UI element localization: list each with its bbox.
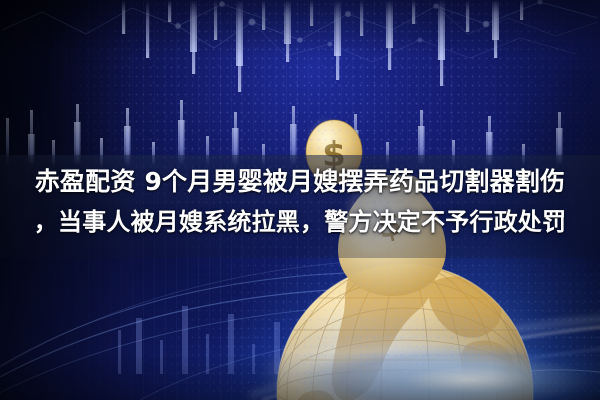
- headline-text: 赤盈配资 9个月男婴被月嫂摆弄药品切割器割伤 ，当事人被月嫂系统拉黑，警方决定不…: [0, 162, 600, 242]
- news-banner-image: $ $ 赤盈配资 9个月男婴被月嫂摆弄药品切割器割伤 ，当事人被月嫂系统拉黑，警…: [0, 0, 600, 400]
- headline-line-1: 赤盈配资 9个月男婴被月嫂摆弄药品切割器割伤: [14, 162, 586, 202]
- headline-line-2: ，当事人被月嫂系统拉黑，警方决定不予行政处罚: [14, 202, 586, 242]
